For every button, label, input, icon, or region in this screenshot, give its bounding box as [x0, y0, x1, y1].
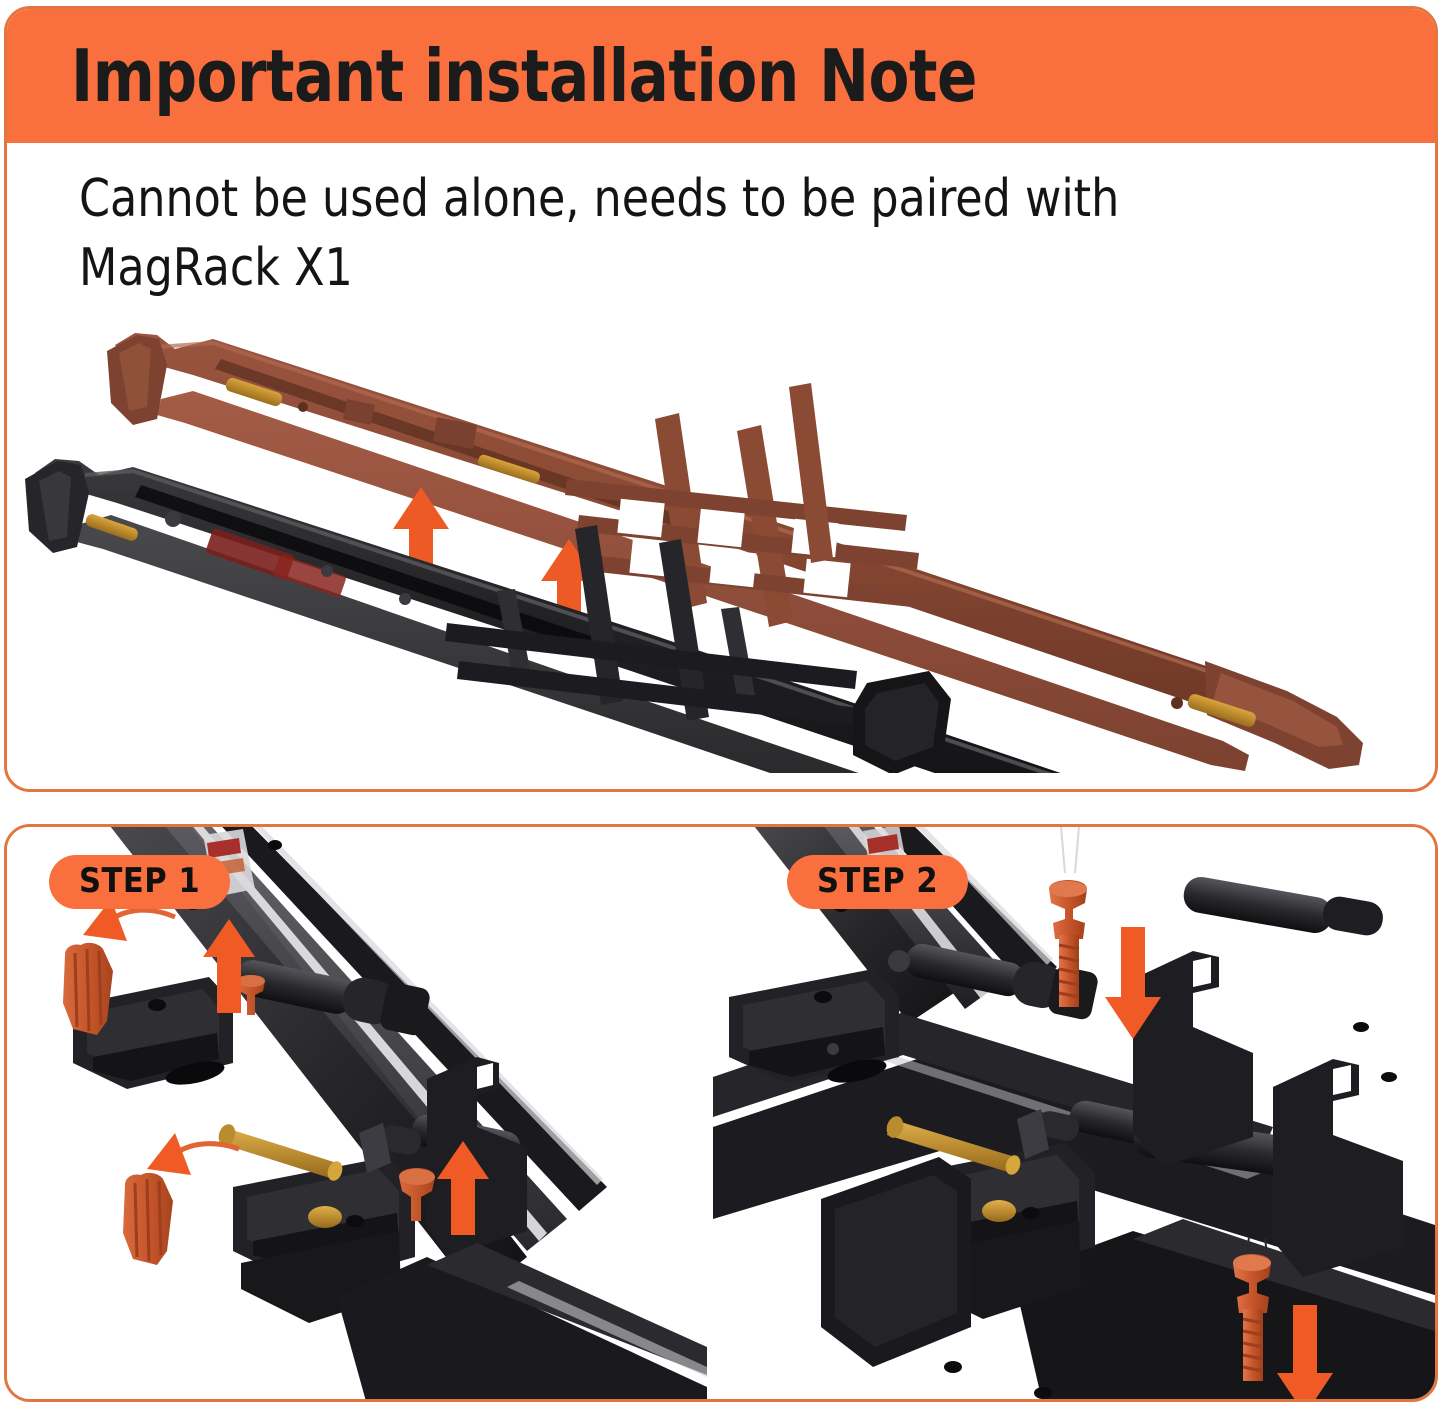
step-panel-1: STEP 1	[7, 827, 707, 1399]
page-title: Important installation Note	[71, 34, 977, 118]
step-2-badge: STEP 2	[787, 855, 968, 909]
step-panel-2: STEP 2	[713, 827, 1438, 1399]
installation-note-card: Important installation Note Cannot be us…	[4, 6, 1438, 792]
note-subtitle: Cannot be used alone, needs to be paired…	[79, 165, 1200, 302]
note-header-bar: Important installation Note	[7, 9, 1435, 143]
loose-plug-2	[123, 1173, 173, 1265]
step-2-photo	[713, 827, 1438, 1399]
step-1-photo	[7, 827, 707, 1399]
step-1-badge: STEP 1	[49, 855, 230, 909]
loose-plug-1	[63, 943, 113, 1035]
product-illustration	[7, 303, 1438, 773]
product-exploded-view: X1 XA	[7, 303, 1438, 773]
note-body: Cannot be used alone, needs to be paired…	[7, 143, 1435, 789]
installation-steps-card: STEP 1	[4, 824, 1438, 1402]
